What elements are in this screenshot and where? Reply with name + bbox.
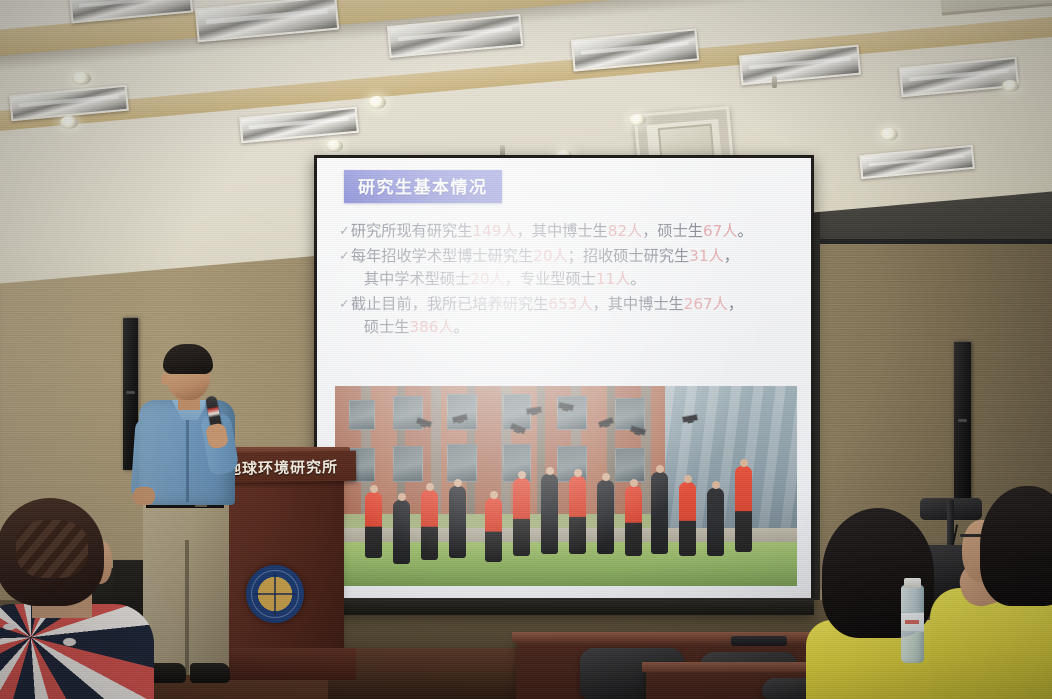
presenter-left-hand: [133, 487, 155, 505]
lecture-hall-photo: 研究生基本情况 ✓ 研究所现有研究生149人，其中博士生82人，硕士生67人。 …: [0, 0, 1052, 699]
building-window: [447, 444, 477, 482]
graduate: [393, 500, 410, 564]
slide-bullet: ✓ 截止目前，我所已培养研究生653人，其中博士生267人， 硕士生386人。: [339, 293, 797, 339]
bullet-segment: 截止目前，我所已培养研究生: [351, 295, 548, 313]
graduate: [707, 488, 724, 556]
slide-title-banner: 研究生基本情况: [344, 170, 502, 203]
ceiling-downlight: [60, 116, 78, 129]
smartphone-on-desk: [731, 636, 787, 646]
ceiling-downlight: [368, 96, 386, 109]
bullet-number: 653人: [548, 295, 592, 313]
bullet-segment: 。: [454, 318, 469, 336]
graduate: [365, 492, 382, 558]
podium-nameplate-text: 地球环境研究所: [226, 456, 338, 479]
bullet-number: 31人: [689, 247, 724, 265]
graduate: [449, 486, 466, 558]
ceiling-downlight: [880, 128, 898, 141]
projection-screen-bottom-bar: [314, 598, 814, 615]
building-window: [447, 394, 477, 430]
emblem-ring: [251, 570, 299, 618]
slide-title: 研究生基本情况: [358, 173, 488, 198]
graduate: [735, 466, 752, 552]
graduate: [513, 478, 530, 556]
projection-screen[interactable]: 研究生基本情况 ✓ 研究所现有研究生149人，其中博士生82人，硕士生67人。 …: [317, 158, 811, 602]
ceiling-downlight: [72, 72, 91, 85]
graduate: [569, 476, 586, 554]
slide-bullet: ✓ 每年招收学术型博士研究生20人；招收硕士研究生31人， 其中学术型硕士20人…: [339, 245, 797, 291]
column-speaker-right: [954, 342, 971, 502]
building-window: [615, 398, 645, 430]
ceiling-downlight: [326, 140, 343, 152]
bullet-segment: 。: [630, 270, 645, 288]
presenter-ear: [161, 373, 169, 385]
bullet-number: 386人: [409, 318, 453, 336]
bullet-segment: 研究所现有研究生: [351, 222, 473, 240]
bullet-segment: ，: [724, 247, 739, 265]
check-icon: ✓: [339, 295, 350, 315]
slide-bullet-text: 每年招收学术型博士研究生20人；招收硕士研究生31人， 其中学术型硕士20人，专…: [351, 245, 797, 291]
building-window: [349, 400, 375, 430]
bullet-segment: 硕士生: [364, 318, 410, 336]
slide-bullet-text-line2: 硕士生386人。: [351, 316, 797, 339]
graduate: [651, 472, 668, 554]
audience-front-left-top: [0, 604, 154, 699]
bullet-number: 82人: [608, 222, 643, 240]
graduate: [625, 486, 642, 556]
ceiling-downlight: [629, 114, 646, 126]
check-icon: ✓: [339, 247, 350, 267]
graduate: [421, 490, 438, 560]
building-window: [393, 446, 423, 482]
bullet-segment: ，: [728, 295, 743, 313]
slide-bullet-text-line2: 其中学术型硕士20人，专业型硕士11人。: [351, 268, 797, 291]
graduate: [679, 482, 696, 556]
bullet-number: 20人: [533, 247, 568, 265]
building-window: [503, 444, 531, 482]
slide-bullet: ✓ 研究所现有研究生149人，其中博士生82人，硕士生67人。: [339, 220, 797, 243]
slide-bullet-text: 研究所现有研究生149人，其中博士生82人，硕士生67人。: [351, 220, 797, 243]
audience-front-left-braid: [16, 520, 88, 578]
bullet-segment: ，专业型硕士: [505, 270, 596, 288]
graduate: [541, 474, 558, 554]
bullet-number: 67人: [703, 222, 738, 240]
institute-emblem-icon: [246, 565, 304, 623]
bullet-number: 149人: [472, 222, 516, 240]
building-window: [557, 396, 587, 430]
presenter-shirt-placket: [186, 414, 189, 502]
bullet-segment: ，其中博士生: [517, 222, 608, 240]
slide-body: ✓ 研究所现有研究生149人，其中博士生82人，硕士生67人。 ✓ 每年招收学术…: [339, 220, 797, 341]
presenter-shoe: [190, 663, 230, 683]
bullet-segment: ，其中博士生: [593, 295, 684, 313]
bullet-segment: ；招收硕士研究生: [568, 247, 690, 265]
bullet-number: 267人: [684, 295, 728, 313]
presenter-hair: [163, 344, 213, 374]
graduation-photo: [335, 386, 797, 586]
bullet-number: 11人: [596, 270, 631, 288]
bullet-segment: 其中学术型硕士: [364, 270, 470, 288]
graduate: [597, 480, 614, 554]
building-window: [615, 448, 645, 482]
slide-bullet-text: 截止目前，我所已培养研究生653人，其中博士生267人， 硕士生386人。: [351, 293, 797, 339]
sprinkler-head: [772, 76, 777, 88]
ceiling-downlight: [1002, 80, 1019, 92]
water-bottle-label: [901, 612, 924, 632]
check-icon: ✓: [339, 222, 350, 242]
bullet-segment: 每年招收学术型博士研究生: [351, 247, 533, 265]
bullet-segment: 。: [738, 222, 753, 240]
water-bottle-cap: [904, 578, 921, 588]
podium: [218, 455, 344, 670]
building-window: [393, 396, 423, 430]
bullet-segment: ，硕士生: [642, 222, 703, 240]
graduate: [485, 498, 502, 562]
bullet-number: 20人: [470, 270, 505, 288]
presenter-trouser-seam: [185, 540, 189, 675]
